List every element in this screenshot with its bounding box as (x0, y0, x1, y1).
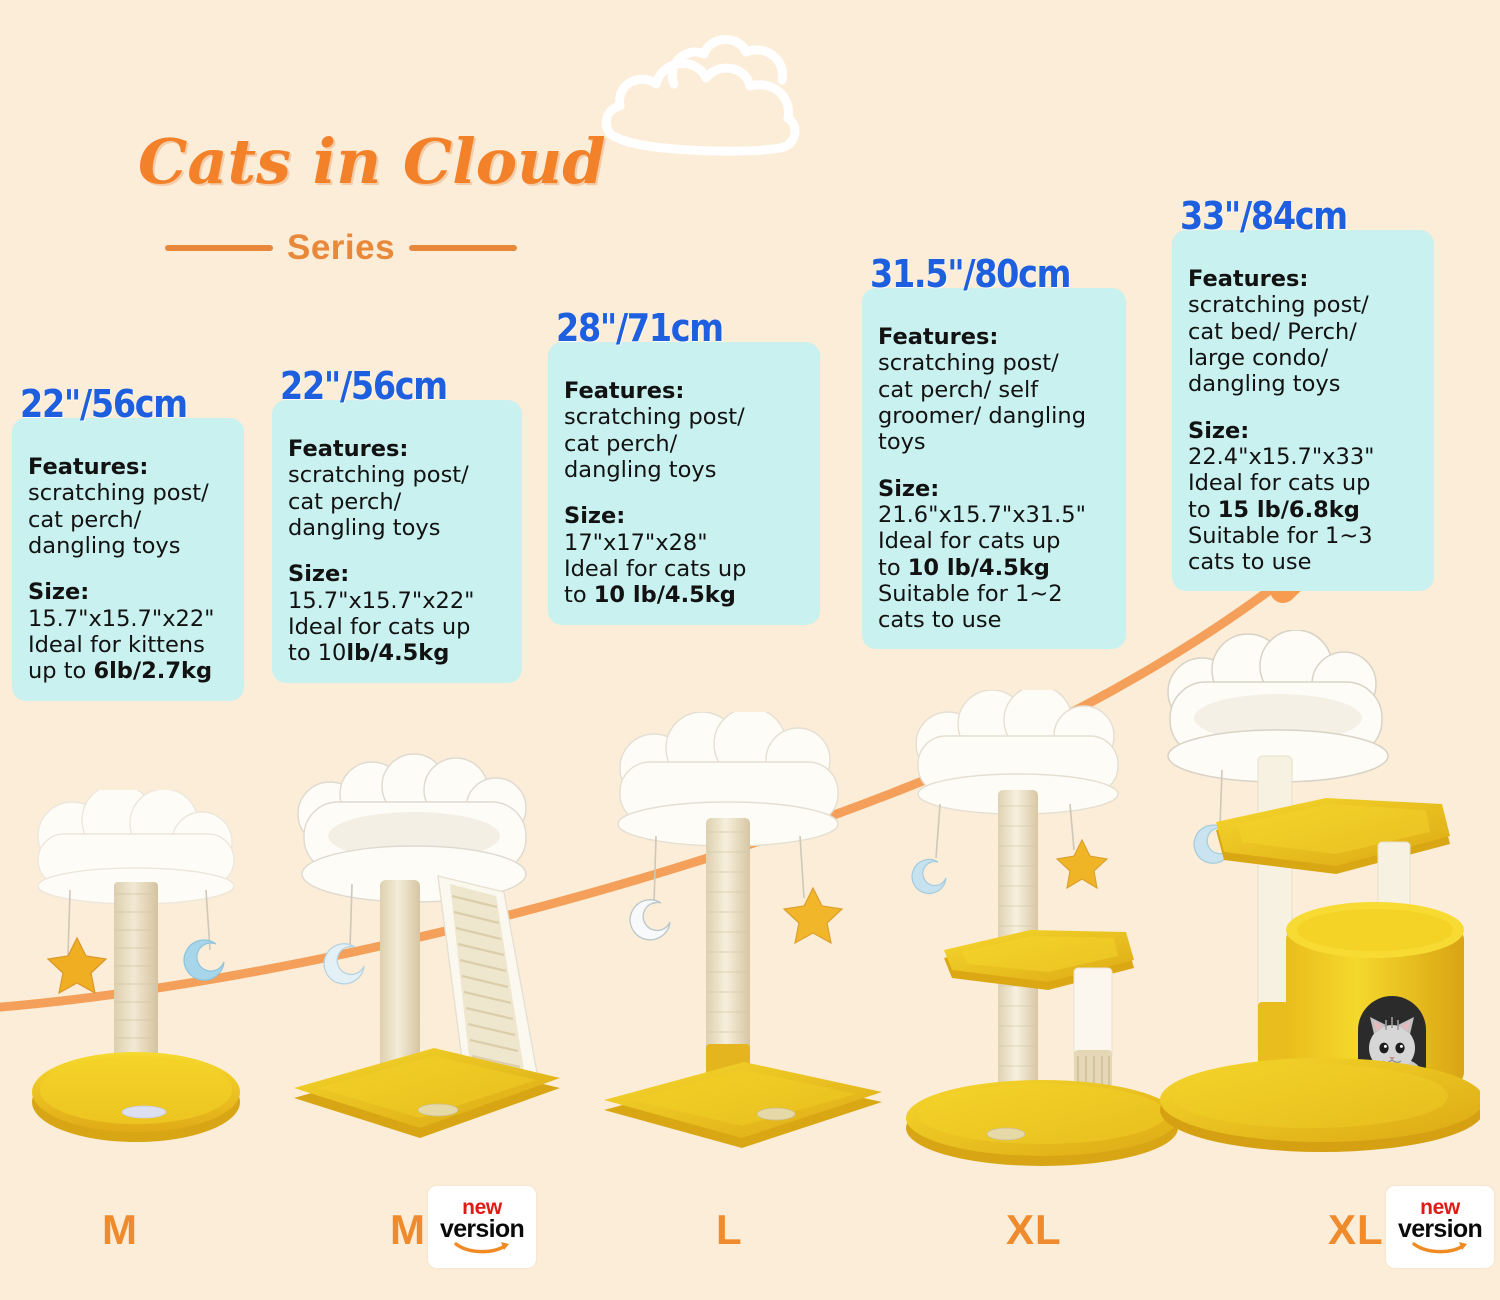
cloud-outline-icon (600, 30, 840, 160)
page-title: Cats in Cloud (138, 125, 606, 198)
cat-tree-m-new-version (288, 752, 568, 1172)
size-label-xl: XL (1006, 1206, 1062, 1254)
amazon-smile-arrow-icon (1411, 1240, 1469, 1256)
yellow-star-toy (48, 938, 106, 993)
info-card-4: 31.5"/80cm Features: scratching post/ ca… (862, 288, 1126, 649)
blue-moon-toy (912, 859, 946, 893)
card-heading: 28"/71cm (556, 306, 723, 350)
pale-moon-toy (324, 944, 364, 984)
amazon-smile-arrow-icon (453, 1240, 511, 1256)
card-features: Features: scratching post/ cat perch/ da… (28, 454, 230, 559)
size-label-xl-new: XL (1328, 1206, 1384, 1254)
info-card-5: 33"/84cm Features: scratching post/ cat … (1172, 230, 1434, 591)
blue-moon-toy (184, 940, 224, 980)
cat-tree-xl-new-version (1150, 630, 1480, 1175)
badge-new-text: new (462, 1198, 502, 1218)
cat-tree-m (10, 790, 270, 1165)
card-suitable: Suitable for 1~3 cats to use (1188, 523, 1420, 576)
card-heading: 22"/56cm (280, 364, 447, 408)
infographic-canvas: Cats in Cloud Series 22"/56cm Features: … (0, 0, 1500, 1300)
card-suitable: Suitable for 1~2 cats to use (878, 581, 1112, 634)
card-features: Features: scratching post/ cat perch/ da… (564, 378, 806, 483)
size-label-m-new: M (390, 1206, 426, 1254)
card-heading: 31.5"/80cm (870, 252, 1070, 296)
badge-version-text: version (440, 1217, 524, 1242)
info-card-2: 22"/56cm Features: scratching post/ cat … (272, 400, 522, 683)
size-label-l: L (716, 1206, 743, 1254)
series-subtitle: Series (165, 228, 517, 268)
white-moon-toy (630, 900, 670, 940)
card-features: Features: scratching post/ cat bed/ Perc… (1188, 266, 1420, 398)
card-size: Size: 21.6"x15.7"x31.5" Ideal for cats u… (878, 476, 1112, 634)
series-rule-right (409, 245, 517, 251)
info-card-3: 28"/71cm Features: scratching post/ cat … (548, 342, 820, 625)
card-features: Features: scratching post/ cat perch/ da… (288, 436, 508, 541)
badge-new-text: new (1420, 1198, 1460, 1218)
new-version-badge: new version (1386, 1186, 1494, 1268)
new-version-badge: new version (428, 1186, 536, 1268)
card-size: Size: 15.7"x15.7"x22" Ideal for kittens … (28, 579, 230, 684)
yellow-star-toy (1057, 840, 1107, 888)
badge-version-text: version (1398, 1217, 1482, 1242)
info-card-1: 22"/56cm Features: scratching post/ cat … (12, 418, 244, 701)
card-heading: 33"/84cm (1180, 194, 1347, 238)
card-heading: 22"/56cm (20, 382, 187, 426)
series-label: Series (287, 228, 395, 268)
size-label-m: M (102, 1206, 138, 1254)
card-features: Features: scratching post/ cat perch/ se… (878, 324, 1112, 456)
yellow-star-toy (784, 888, 842, 943)
card-size: Size: 22.4"x15.7"x33" Ideal for cats up … (1188, 418, 1420, 576)
card-size: Size: 15.7"x15.7"x22" Ideal for cats up … (288, 561, 508, 666)
cat-tree-xl (898, 690, 1188, 1172)
cat-tree-l (598, 712, 888, 1172)
series-rule-left (165, 245, 273, 251)
card-size: Size: 17"x17"x28" Ideal for cats up to 1… (564, 503, 806, 608)
